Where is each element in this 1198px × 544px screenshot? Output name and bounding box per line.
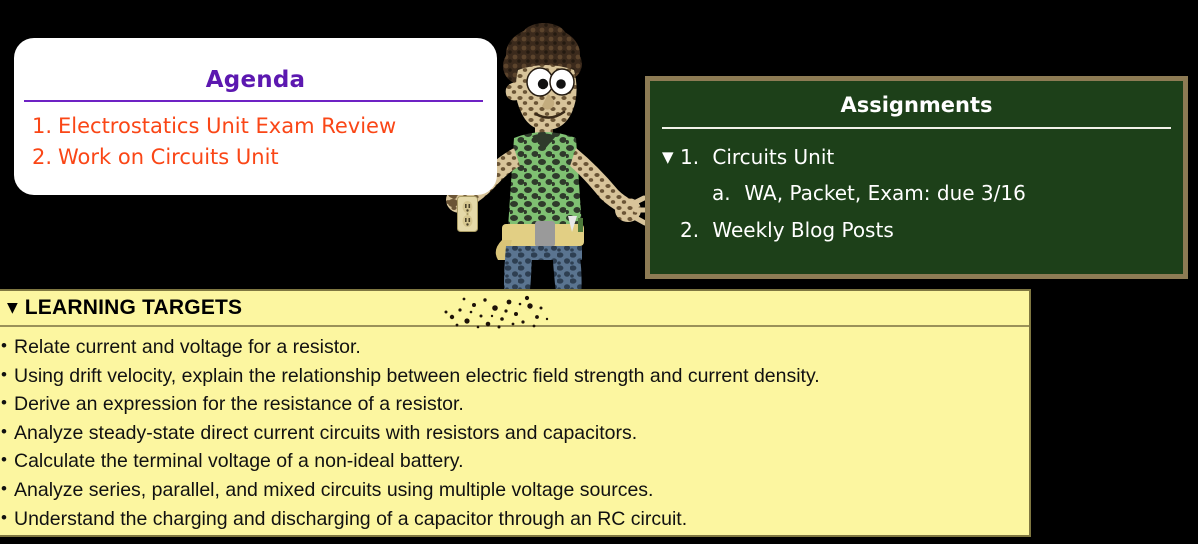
assignment-item-circuits-unit[interactable]: ▼ 1. Circuits Unit: [650, 139, 1183, 175]
learning-target-item: Analyze series, parallel, and mixed circ…: [0, 476, 1029, 505]
assignment-item-marker: 1.: [680, 139, 706, 175]
slide-canvas: Agenda Electrostatics Unit Exam Review W…: [0, 0, 1198, 544]
assignment-item-marker: 2.: [680, 212, 706, 248]
assignment-subitem-due-date[interactable]: a. WA, Packet, Exam: due 3/16: [650, 175, 1183, 211]
agenda-title: Agenda: [14, 38, 497, 92]
learning-target-item: Relate current and voltage for a resisto…: [0, 333, 1029, 362]
chevron-down-icon[interactable]: ▼: [662, 139, 674, 175]
chevron-down-icon[interactable]: ▼: [7, 301, 18, 315]
agenda-item[interactable]: Work on Circuits Unit: [32, 142, 497, 173]
learning-target-item: Analyze steady-state direct current circ…: [0, 419, 1029, 448]
assignment-item-label: Weekly Blog Posts: [712, 218, 893, 242]
debris-scatter: [440, 286, 570, 331]
learning-target-item: Understand the charging and discharging …: [0, 505, 1029, 534]
learning-target-item: Calculate the terminal voltage of a non-…: [0, 447, 1029, 476]
character-right-arm: [570, 148, 649, 223]
agenda-item[interactable]: Electrostatics Unit Exam Review: [32, 111, 497, 142]
learning-targets-list: Relate current and voltage for a resisto…: [0, 327, 1029, 533]
agenda-list: Electrostatics Unit Exam Review Work on …: [14, 102, 497, 173]
learning-target-item: Derive an expression for the resistance …: [0, 390, 1029, 419]
agenda-item-label: Work on Circuits Unit: [58, 145, 279, 169]
assignment-item-label: Circuits Unit: [712, 145, 834, 169]
assignments-title: Assignments: [650, 81, 1183, 116]
assignment-subitem-label: WA, Packet, Exam: due 3/16: [744, 181, 1025, 205]
assignment-item-weekly-blog-posts[interactable]: 2. Weekly Blog Posts: [650, 212, 1183, 248]
learning-targets-header-label: LEARNING TARGETS: [25, 296, 242, 320]
character-shirt: [508, 132, 582, 228]
assignment-subitem-marker: a.: [712, 175, 738, 211]
agenda-card: Agenda Electrostatics Unit Exam Review W…: [14, 38, 497, 195]
assignments-list: ▼ 1. Circuits Unit a. WA, Packet, Exam: …: [650, 129, 1183, 248]
learning-target-item: Using drift velocity, explain the relati…: [0, 362, 1029, 391]
wall-outlet-plate: [457, 196, 478, 232]
assignments-chalkboard: Assignments ▼ 1. Circuits Unit a. WA, Pa…: [645, 76, 1188, 279]
agenda-item-label: Electrostatics Unit Exam Review: [58, 114, 396, 138]
